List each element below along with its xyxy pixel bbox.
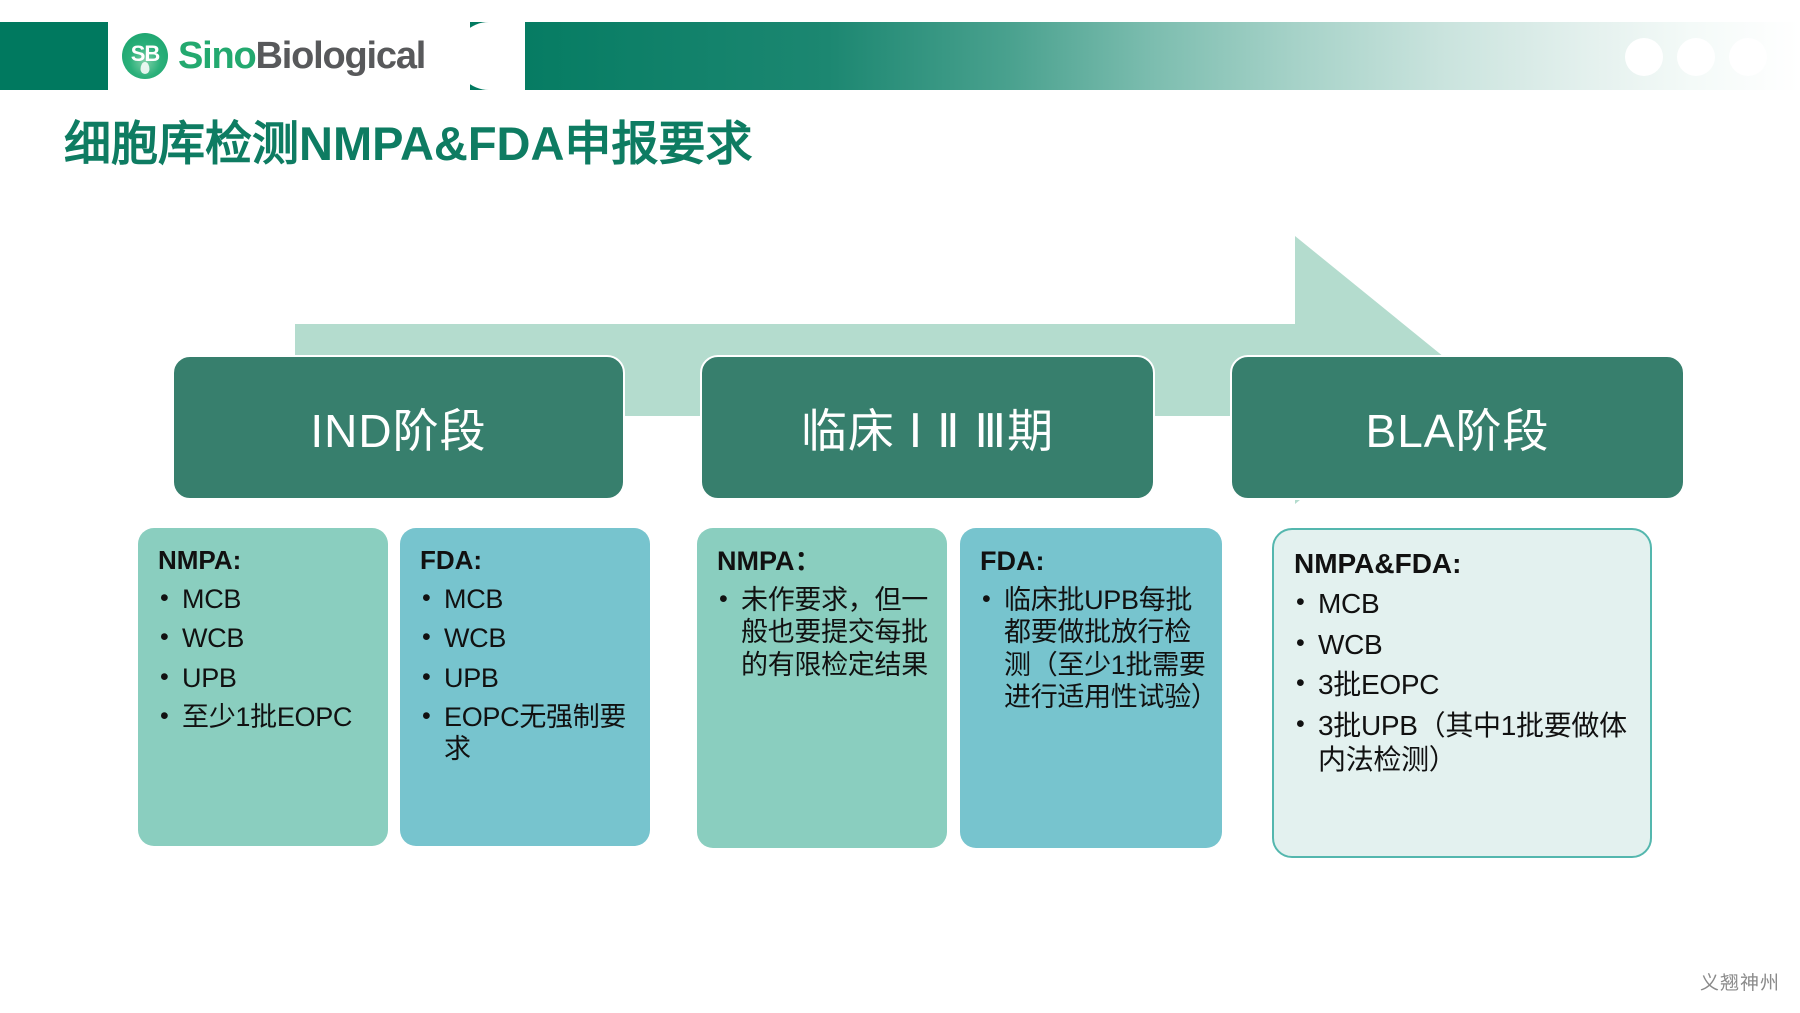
brand-first-word: Sino [178, 35, 256, 77]
watermark-text: 义翘神州 [1700, 968, 1780, 995]
list-item: WCB [1294, 628, 1634, 662]
list-item: 未作要求，但一般也要提交每批的有限检定结果 [717, 584, 931, 681]
requirement-card-ind-nmpa: NMPA: MCB WCB UPB 至少1批EOPC [138, 528, 388, 846]
sb-badge-icon: SB [122, 33, 168, 79]
card-bullet-list: MCB WCB 3批EOPC 3批UPB（其中1批要做体内法检测） [1294, 587, 1634, 776]
brand-wordmark: SinoBiological [178, 37, 425, 75]
list-item: 3批UPB（其中1批要做体内法检测） [1294, 709, 1634, 776]
card-bullet-list: MCB WCB UPB 至少1批EOPC [158, 583, 372, 734]
stage-label: 临床 Ⅰ Ⅱ Ⅲ期 [801, 395, 1054, 461]
list-item: 3批EOPC [1294, 668, 1634, 702]
card-bullet-list: 未作要求，但一般也要提交每批的有限检定结果 [717, 584, 931, 681]
list-item: 临床批UPB每批都要做批放行检测（至少1批需要进行适用性试验） [980, 584, 1206, 714]
list-item: WCB [420, 622, 634, 654]
sino-biological-logo: SB SinoBiological [122, 28, 425, 84]
stage-box-clinical[interactable]: 临床 Ⅰ Ⅱ Ⅲ期 [700, 355, 1155, 500]
card-title: NMPA&FDA: [1294, 548, 1634, 580]
brand-second-word: Biological [256, 35, 426, 77]
stage-box-ind[interactable]: IND阶段 [172, 355, 625, 500]
header-circle-icon-1 [1625, 38, 1663, 76]
droplet-icon [141, 62, 150, 74]
stage-label: BLA阶段 [1366, 395, 1550, 461]
list-item: UPB [420, 662, 634, 694]
requirement-card-ind-fda: FDA: MCB WCB UPB EOPC无强制要求 [400, 528, 650, 846]
card-bullet-list: MCB WCB UPB EOPC无强制要求 [420, 583, 634, 766]
list-item: 至少1批EOPC [158, 701, 372, 733]
requirement-card-clinical-nmpa: NMPA： 未作要求，但一般也要提交每批的有限检定结果 [697, 528, 947, 848]
header-right-notch [455, 22, 525, 90]
list-item: MCB [1294, 587, 1634, 621]
stage-box-bla[interactable]: BLA阶段 [1230, 355, 1685, 500]
list-item: MCB [158, 583, 372, 615]
header-circle-icon-3 [1729, 38, 1767, 76]
card-title: NMPA: [158, 546, 372, 576]
list-item: MCB [420, 583, 634, 615]
card-title: NMPA： [717, 546, 931, 577]
list-item: EOPC无强制要求 [420, 701, 634, 766]
requirement-card-clinical-fda: FDA: 临床批UPB每批都要做批放行检测（至少1批需要进行适用性试验） [960, 528, 1222, 848]
list-item: WCB [158, 622, 372, 654]
stage-label: IND阶段 [310, 395, 486, 461]
card-title: FDA: [420, 546, 634, 576]
header-circle-icon-2 [1677, 38, 1715, 76]
page-title: 细胞库检测NMPA&FDA申报要求 [64, 105, 752, 174]
list-item: UPB [158, 662, 372, 694]
card-bullet-list: 临床批UPB每批都要做批放行检测（至少1批需要进行适用性试验） [980, 584, 1206, 714]
card-title: FDA: [980, 546, 1206, 577]
requirement-card-bla-nmpa-fda: NMPA&FDA: MCB WCB 3批EOPC 3批UPB（其中1批要做体内法… [1272, 528, 1652, 858]
